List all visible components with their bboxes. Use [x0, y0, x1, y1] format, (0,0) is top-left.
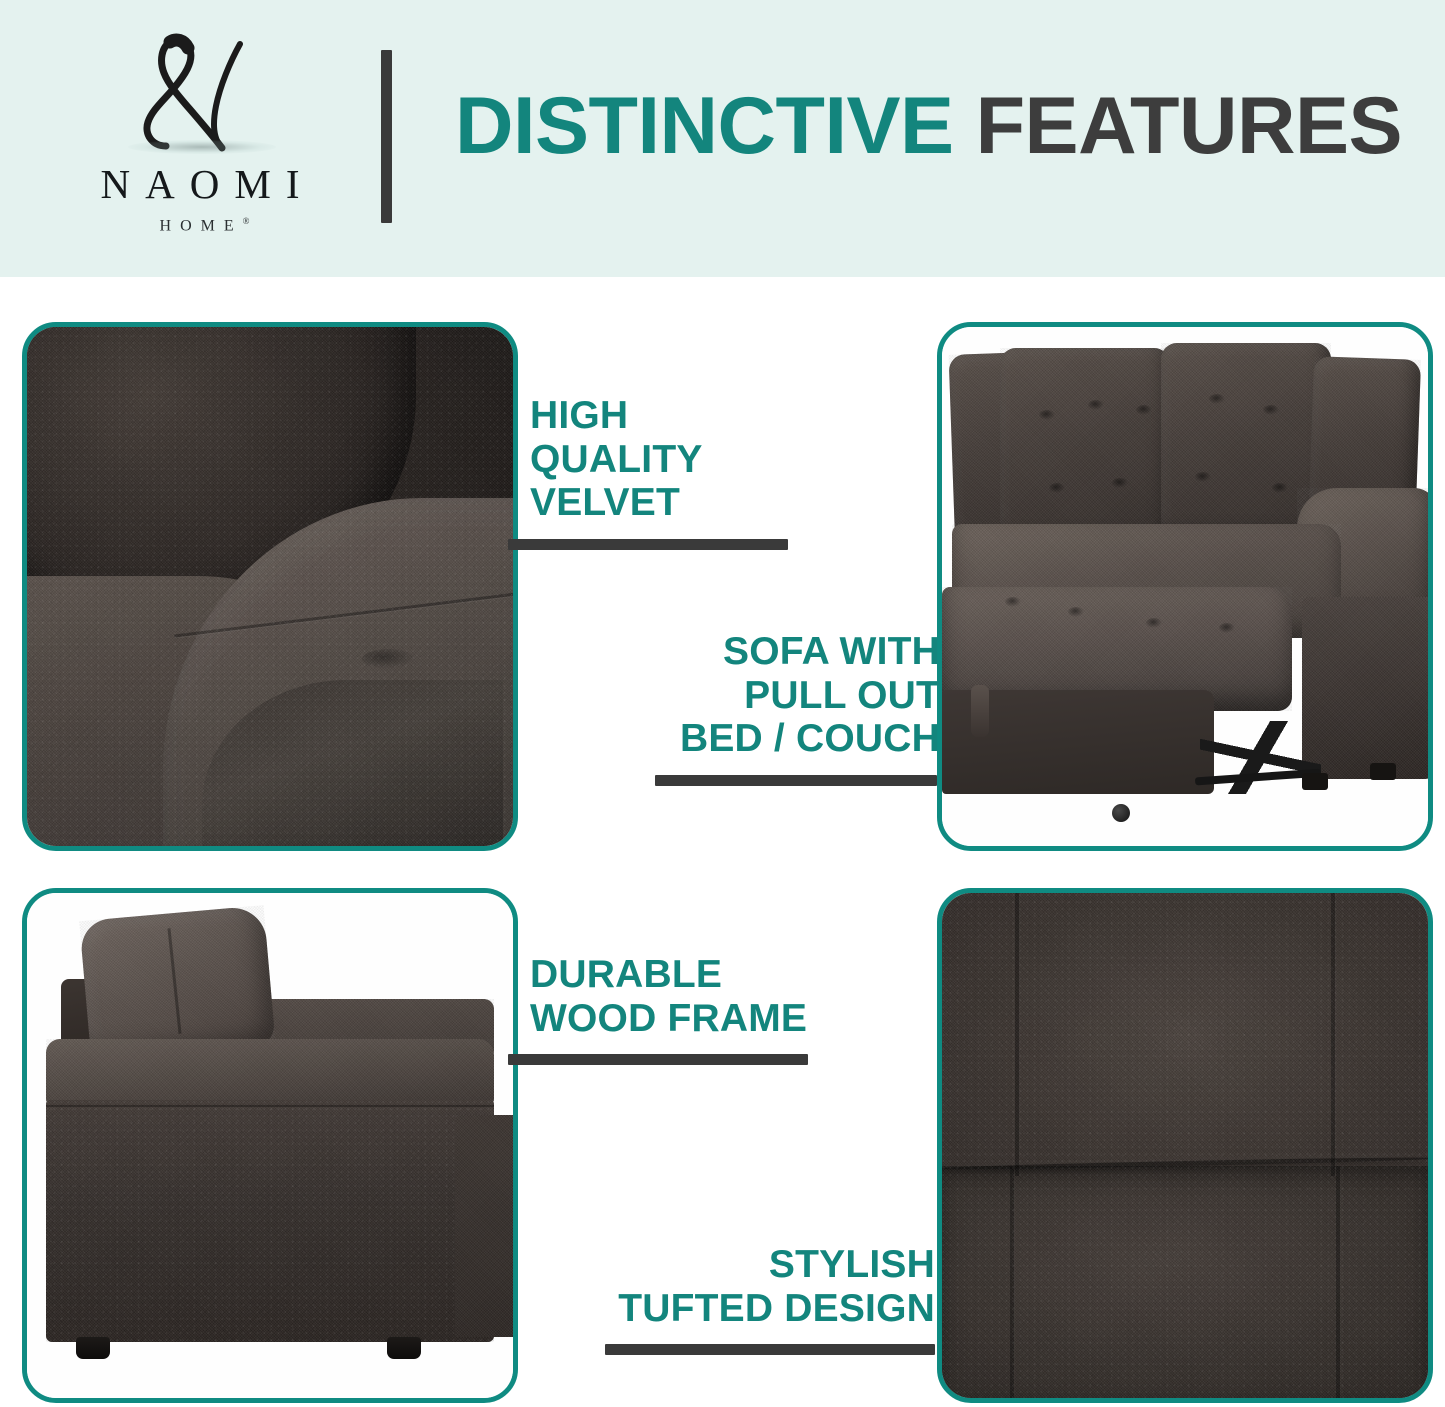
sofa-foot-front: [76, 1337, 110, 1359]
tufted-fabric-macro-photo: [942, 893, 1428, 1398]
header-banner: NAOMI HOME® DISTINCTIVE FEATURES: [0, 0, 1445, 277]
fabric-grain-texture: [46, 1100, 493, 1342]
tuft-dimple: [1088, 400, 1104, 410]
seat-cushion: [46, 1039, 493, 1105]
registered-mark-icon: ®: [243, 216, 250, 226]
pull-strap: [971, 685, 989, 737]
pull-out-sofa-bed-photo: [942, 327, 1428, 846]
callout-label: HIGH QUALITY VELVET: [530, 394, 792, 525]
feature-image-stylish-tufted-design: [937, 888, 1433, 1403]
fabric-weave-texture: [1302, 597, 1433, 779]
sofa-foot: [1370, 763, 1396, 780]
callout-sofa-with-pull-out-bed-couch: SOFA WITH PULL OUT BED / COUCH: [655, 630, 940, 786]
feature-image-sofa-with-pull-out-bed-couch: [937, 322, 1433, 851]
brand-sub-text: HOME: [160, 217, 243, 234]
tuft-dimple: [1112, 478, 1128, 488]
chaise-ottoman-section: [455, 1115, 518, 1337]
tuft-dimple: [1263, 405, 1279, 415]
brand-wordmark: NAOMI: [86, 164, 315, 205]
page-title-accent: DISTINCTIVE: [455, 81, 954, 171]
callout-label: SOFA WITH PULL OUT BED / COUCH: [655, 630, 940, 761]
tuft-dimple: [1146, 618, 1162, 628]
fabric-weave-texture: [1000, 348, 1170, 545]
header-divider: [381, 50, 392, 223]
callout-connector-bar: [655, 775, 937, 786]
tuft-dimple: [1049, 483, 1065, 493]
callout-connector-bar: [508, 1054, 808, 1065]
tuft-dimple: [1272, 483, 1288, 493]
callout-durable-wood-frame: DURABLE WOOD FRAME: [530, 953, 830, 1065]
fabric-grain-texture: [27, 327, 513, 846]
tuft-dimple: [1219, 623, 1235, 633]
callout-stylish-tufted-design: STYLISH TUFTED DESIGN: [605, 1243, 935, 1355]
sofa-frame-body: [46, 1100, 493, 1342]
back-pillow-center-left: [1000, 348, 1170, 545]
fabric-weave-texture: [46, 1039, 493, 1105]
callout-connector-bar: [605, 1344, 935, 1355]
callout-connector-bar: [508, 539, 788, 550]
sofa-foot: [1302, 773, 1328, 790]
fabric-grain-texture: [942, 893, 1428, 1398]
sofa-base-right: [1302, 597, 1433, 779]
page-title-dark: FEATURES: [976, 81, 1403, 171]
logo-shadow: [128, 140, 276, 154]
brand-logo: NAOMI HOME®: [40, 28, 360, 248]
sofa-foot-back: [387, 1337, 421, 1359]
callout-label: DURABLE WOOD FRAME: [530, 953, 830, 1040]
naomi-script-n-monogram-icon: [110, 28, 290, 156]
feature-image-high-quality-velvet: [22, 322, 518, 851]
brand-sub-wordmark: HOME®: [151, 217, 250, 234]
frame-seam-line: [46, 1105, 493, 1107]
callout-label: STYLISH TUFTED DESIGN: [605, 1243, 935, 1330]
velvet-closeup-photo: [27, 327, 513, 846]
sofa-side-profile-photo: [27, 893, 513, 1398]
page-title: DISTINCTIVE FEATURES: [455, 86, 1402, 167]
fabric-weave-texture: [455, 1115, 518, 1337]
callout-high-quality-velvet: HIGH QUALITY VELVET: [530, 394, 792, 550]
tuft-dimple: [1005, 597, 1021, 607]
feature-image-durable-wood-frame: [22, 888, 518, 1403]
